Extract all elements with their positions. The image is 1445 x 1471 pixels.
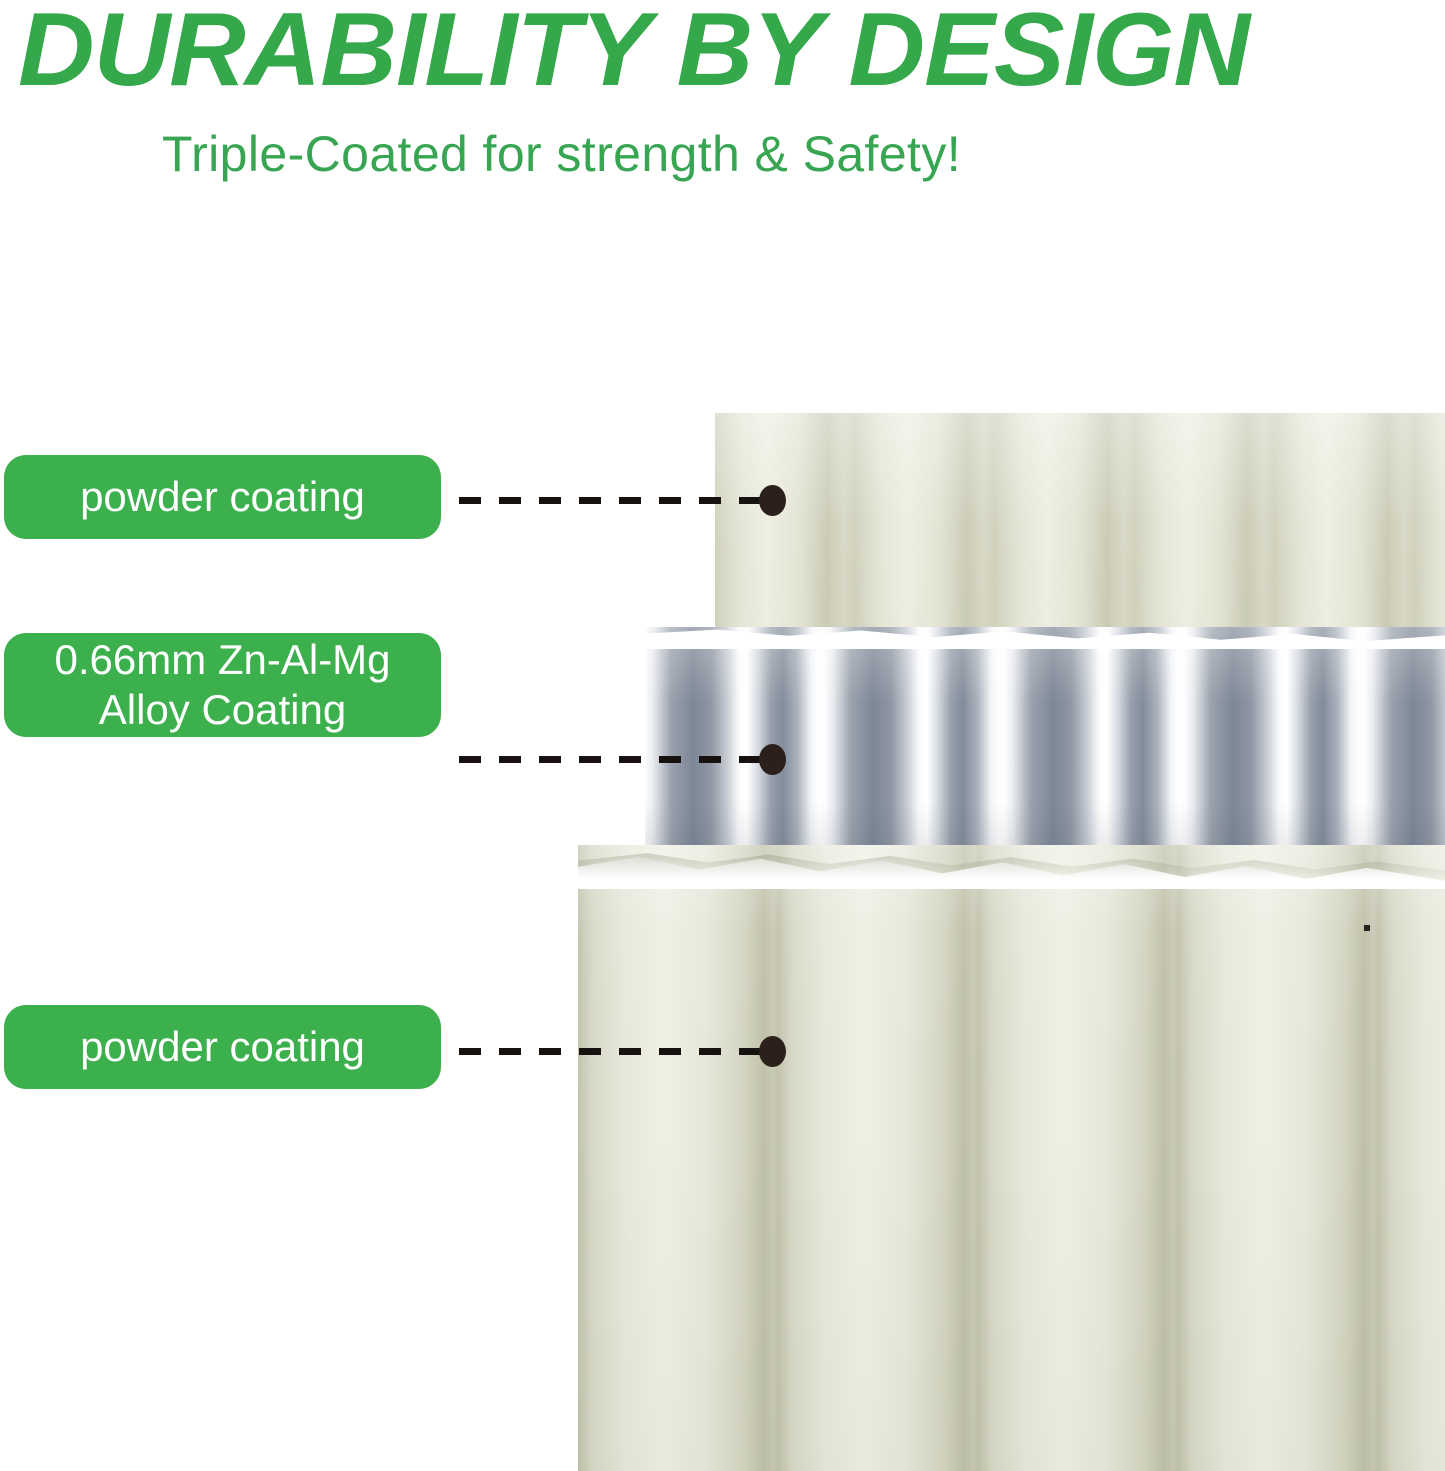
callout-label-top-powder-coating: powder coating — [80, 472, 365, 522]
bottom-powder-coating-layer — [578, 845, 1445, 1471]
page-title: DURABILITY BY DESIGN — [18, 0, 1445, 106]
callout-label-bottom-powder-coating: powder coating — [80, 1022, 365, 1072]
leader-line-top-powder-coating — [459, 497, 764, 504]
leader-dot-bottom-powder-coating — [759, 1036, 786, 1067]
leader-line-alloy-coating — [459, 756, 764, 763]
leader-dot-alloy-coating — [759, 744, 786, 775]
callout-label-alloy-coating-line2: Alloy Coating — [99, 685, 346, 735]
callout-badge-alloy-coating: 0.66mm Zn-Al-Mg Alloy Coating — [4, 633, 441, 737]
leader-line-bottom-powder-coating — [459, 1048, 764, 1055]
callout-badge-bottom-powder-coating: powder coating — [4, 1005, 441, 1089]
callout-badge-top-powder-coating: powder coating — [4, 455, 441, 539]
leader-dot-top-powder-coating — [759, 485, 786, 516]
header-section: DURABILITY BY DESIGN Triple-Coated for s… — [0, 0, 1445, 200]
surface-speck — [1364, 925, 1370, 931]
page-subtitle: Triple-Coated for strength & Safety! — [162, 124, 961, 184]
callout-label-alloy-coating-line1: 0.66mm Zn-Al-Mg — [54, 635, 390, 685]
